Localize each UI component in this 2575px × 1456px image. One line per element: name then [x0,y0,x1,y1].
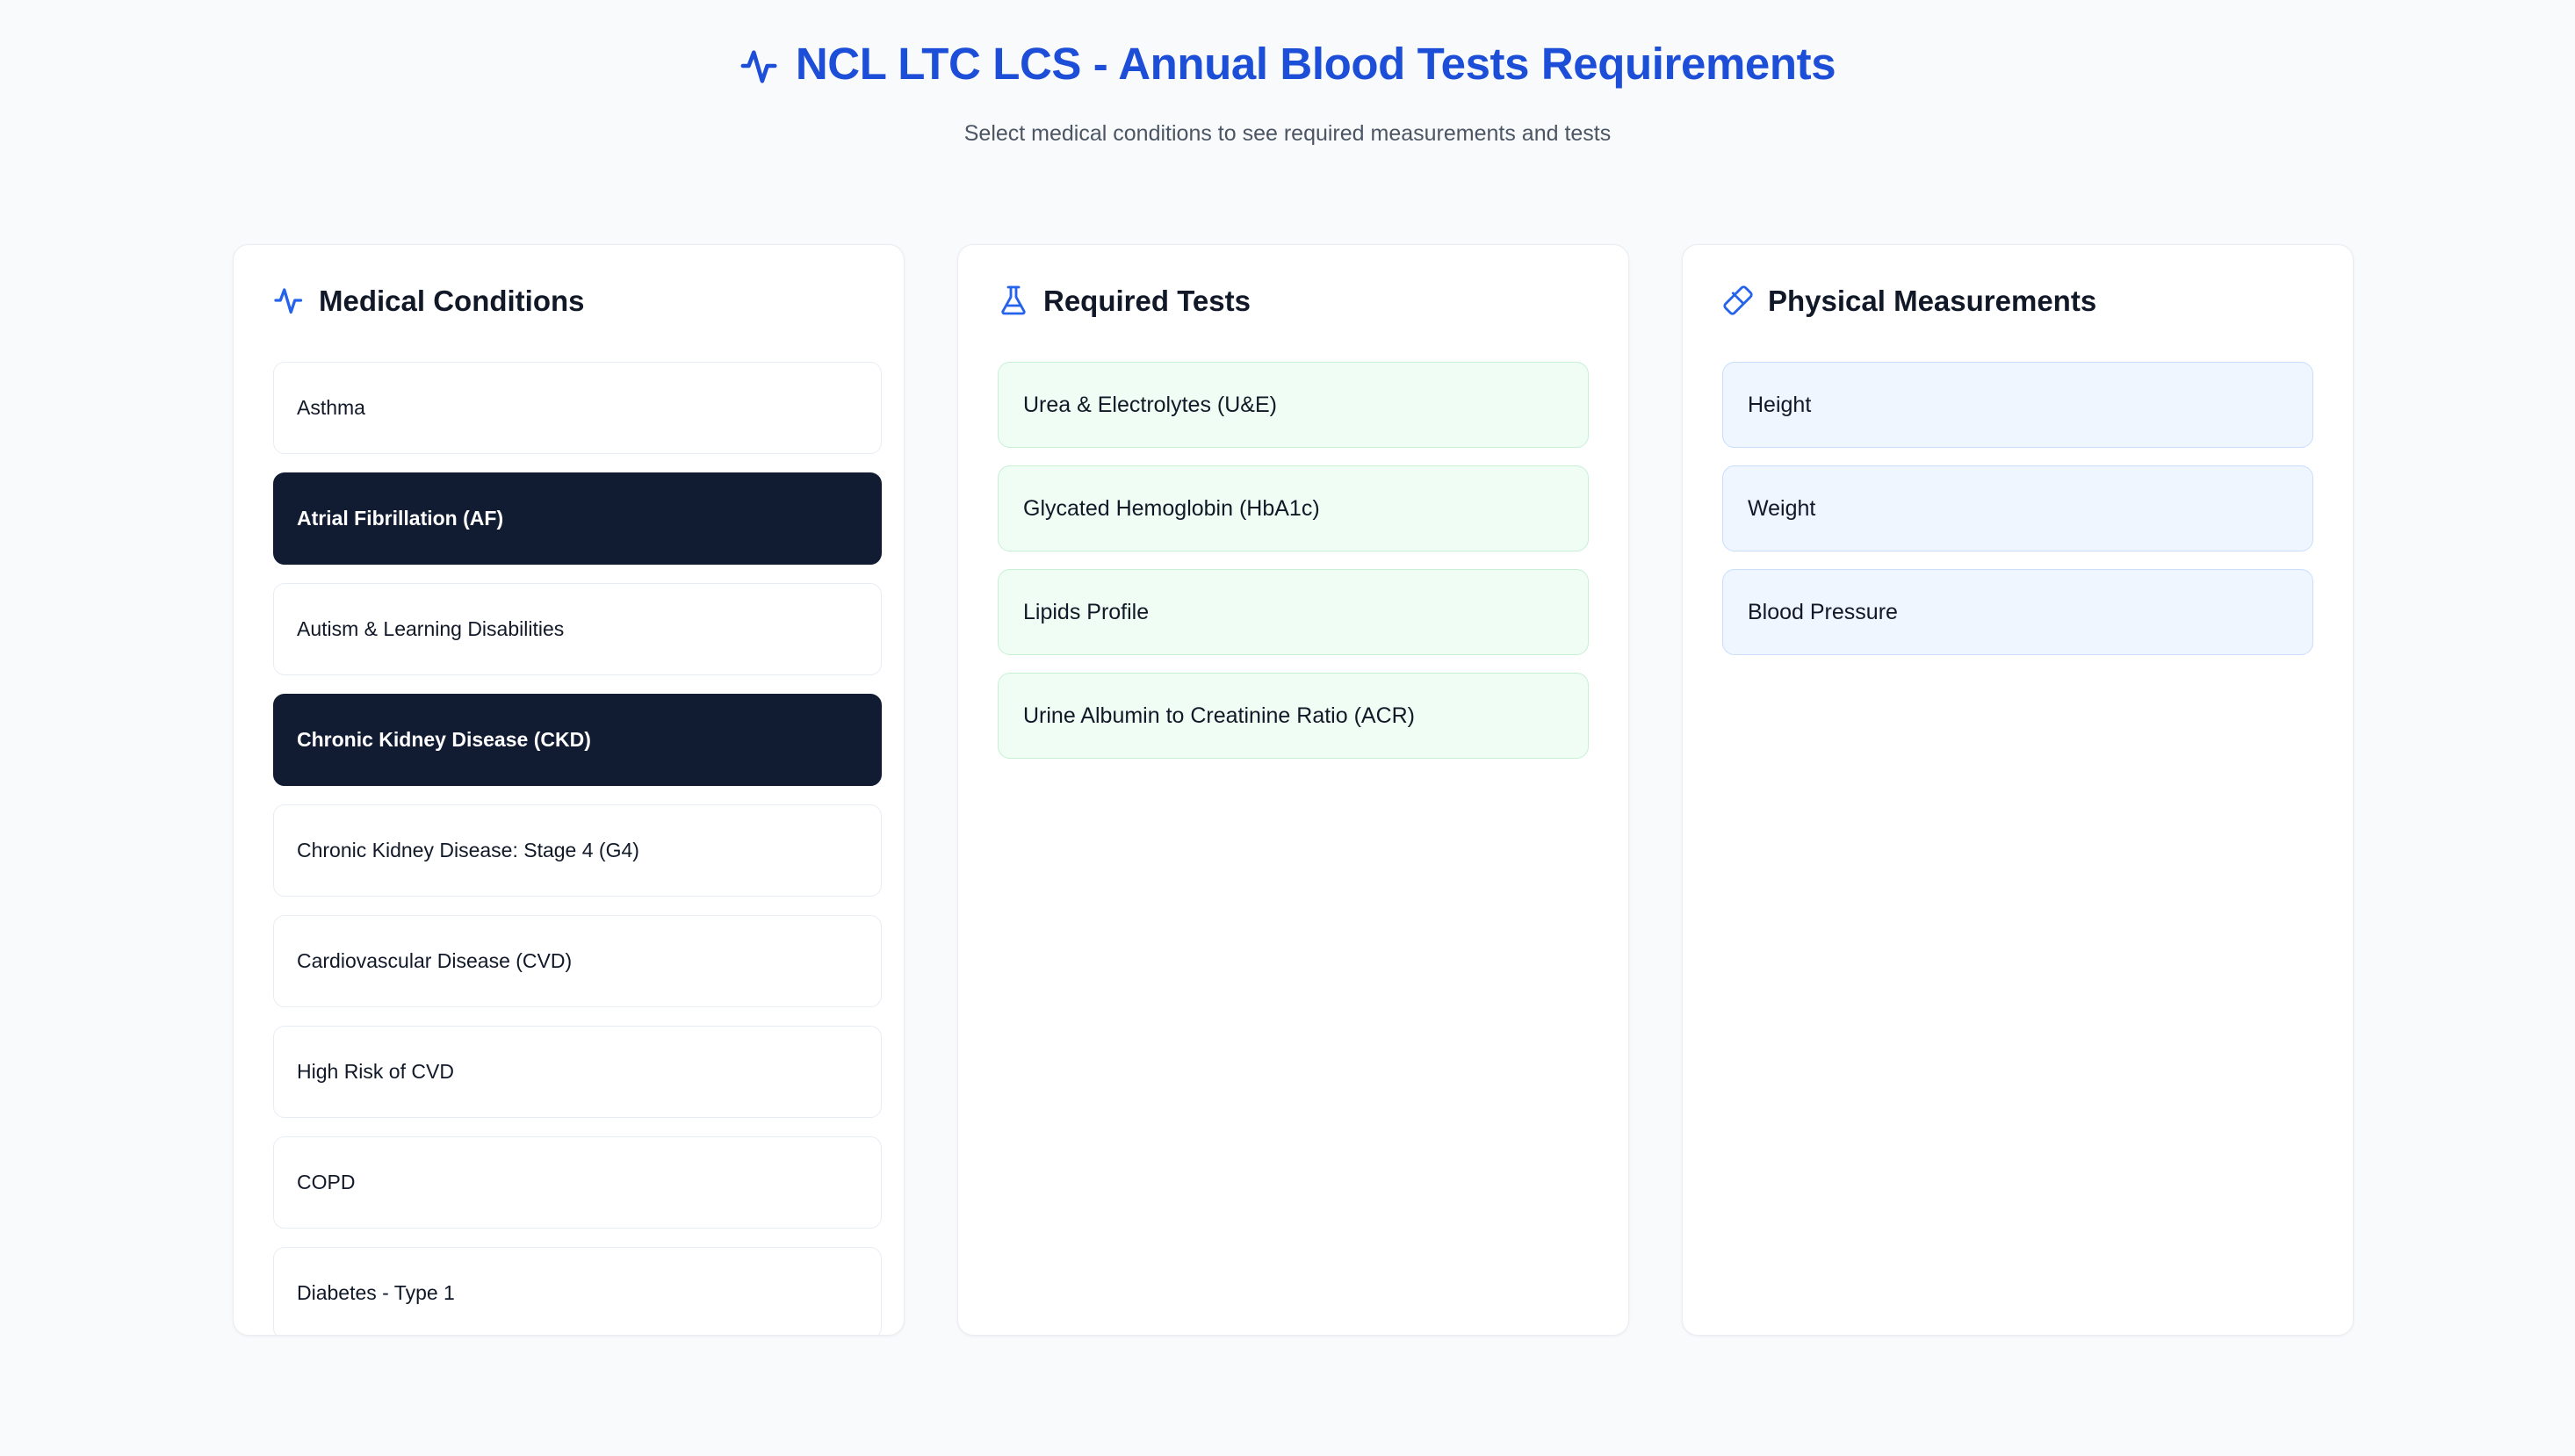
condition-item-autism-learning-disabilities[interactable]: Autism & Learning Disabilities [273,583,882,675]
condition-label: COPD [297,1171,355,1194]
panel-header-measurements: Physical Measurements [1683,245,2353,316]
condition-label: High Risk of CVD [297,1060,454,1084]
condition-item-chronic-kidney-disease[interactable]: Chronic Kidney Disease (CKD) [273,694,882,786]
test-label: Urea & Electrolytes (U&E) [1023,393,1277,418]
condition-item-copd[interactable]: COPD [273,1136,882,1229]
measurement-label: Weight [1748,496,1815,522]
condition-item-ckd-stage-4[interactable]: Chronic Kidney Disease: Stage 4 (G4) [273,804,882,897]
measurement-item-height[interactable]: Height [1722,362,2313,448]
tests-list: Urea & Electrolytes (U&E) Glycated Hemog… [998,362,1589,759]
page-subtitle: Select medical conditions to see require… [0,121,2575,147]
panel-title-measurements: Physical Measurements [1768,286,2096,315]
page-title: NCL LTC LCS - Annual Blood Tests Require… [796,39,1836,90]
measurements-list: Height Weight Blood Pressure [1722,362,2313,655]
condition-label: Diabetes - Type 1 [297,1281,455,1305]
condition-label: Autism & Learning Disabilities [297,617,564,641]
condition-item-cardiovascular-disease[interactable]: Cardiovascular Disease (CVD) [273,915,882,1007]
measurement-label: Blood Pressure [1748,600,1898,625]
flask-icon [998,285,1029,316]
test-item-urine-albumin-creatinine-ratio[interactable]: Urine Albumin to Creatinine Ratio (ACR) [998,673,1589,759]
activity-pulse-icon [739,46,780,86]
title-row: NCL LTC LCS - Annual Blood Tests Require… [0,39,2575,90]
condition-label: Chronic Kidney Disease (CKD) [297,728,591,752]
app-root: NCL LTC LCS - Annual Blood Tests Require… [0,0,2575,1456]
panel-header-conditions: Medical Conditions [234,245,904,316]
test-label: Urine Albumin to Creatinine Ratio (ACR) [1023,703,1415,729]
condition-item-atrial-fibrillation[interactable]: Atrial Fibrillation (AF) [273,472,882,565]
test-item-lipids-profile[interactable]: Lipids Profile [998,569,1589,655]
test-label: Lipids Profile [1023,600,1149,625]
test-item-glycated-hemoglobin[interactable]: Glycated Hemoglobin (HbA1c) [998,465,1589,551]
condition-item-diabetes-type-1[interactable]: Diabetes - Type 1 [273,1247,882,1336]
activity-pulse-icon [273,285,305,316]
conditions-list: Asthma Atrial Fibrillation (AF) Autism &… [273,362,882,1336]
panel-required-tests: Required Tests Urea & Electrolytes (U&E)… [957,244,1629,1336]
panel-title-tests: Required Tests [1043,286,1251,315]
condition-label: Cardiovascular Disease (CVD) [297,949,572,973]
measurement-label: Height [1748,393,1811,418]
test-label: Glycated Hemoglobin (HbA1c) [1023,496,1320,522]
test-item-urea-electrolytes[interactable]: Urea & Electrolytes (U&E) [998,362,1589,448]
page-header: NCL LTC LCS - Annual Blood Tests Require… [0,39,2575,147]
panel-header-tests: Required Tests [958,245,1628,316]
condition-label: Atrial Fibrillation (AF) [297,507,503,530]
measurement-item-blood-pressure[interactable]: Blood Pressure [1722,569,2313,655]
condition-label: Chronic Kidney Disease: Stage 4 (G4) [297,839,639,862]
condition-item-high-risk-of-cvd[interactable]: High Risk of CVD [273,1026,882,1118]
panels-container: Medical Conditions Asthma Atrial Fibrill… [233,244,2344,1336]
condition-label: Asthma [297,396,365,420]
condition-item-asthma[interactable]: Asthma [273,362,882,454]
panel-physical-measurements: Physical Measurements Height Weight Bloo… [1682,244,2354,1336]
ruler-icon [1722,285,1754,316]
panel-title-conditions: Medical Conditions [319,286,585,315]
measurement-item-weight[interactable]: Weight [1722,465,2313,551]
panel-medical-conditions: Medical Conditions Asthma Atrial Fibrill… [233,244,905,1336]
